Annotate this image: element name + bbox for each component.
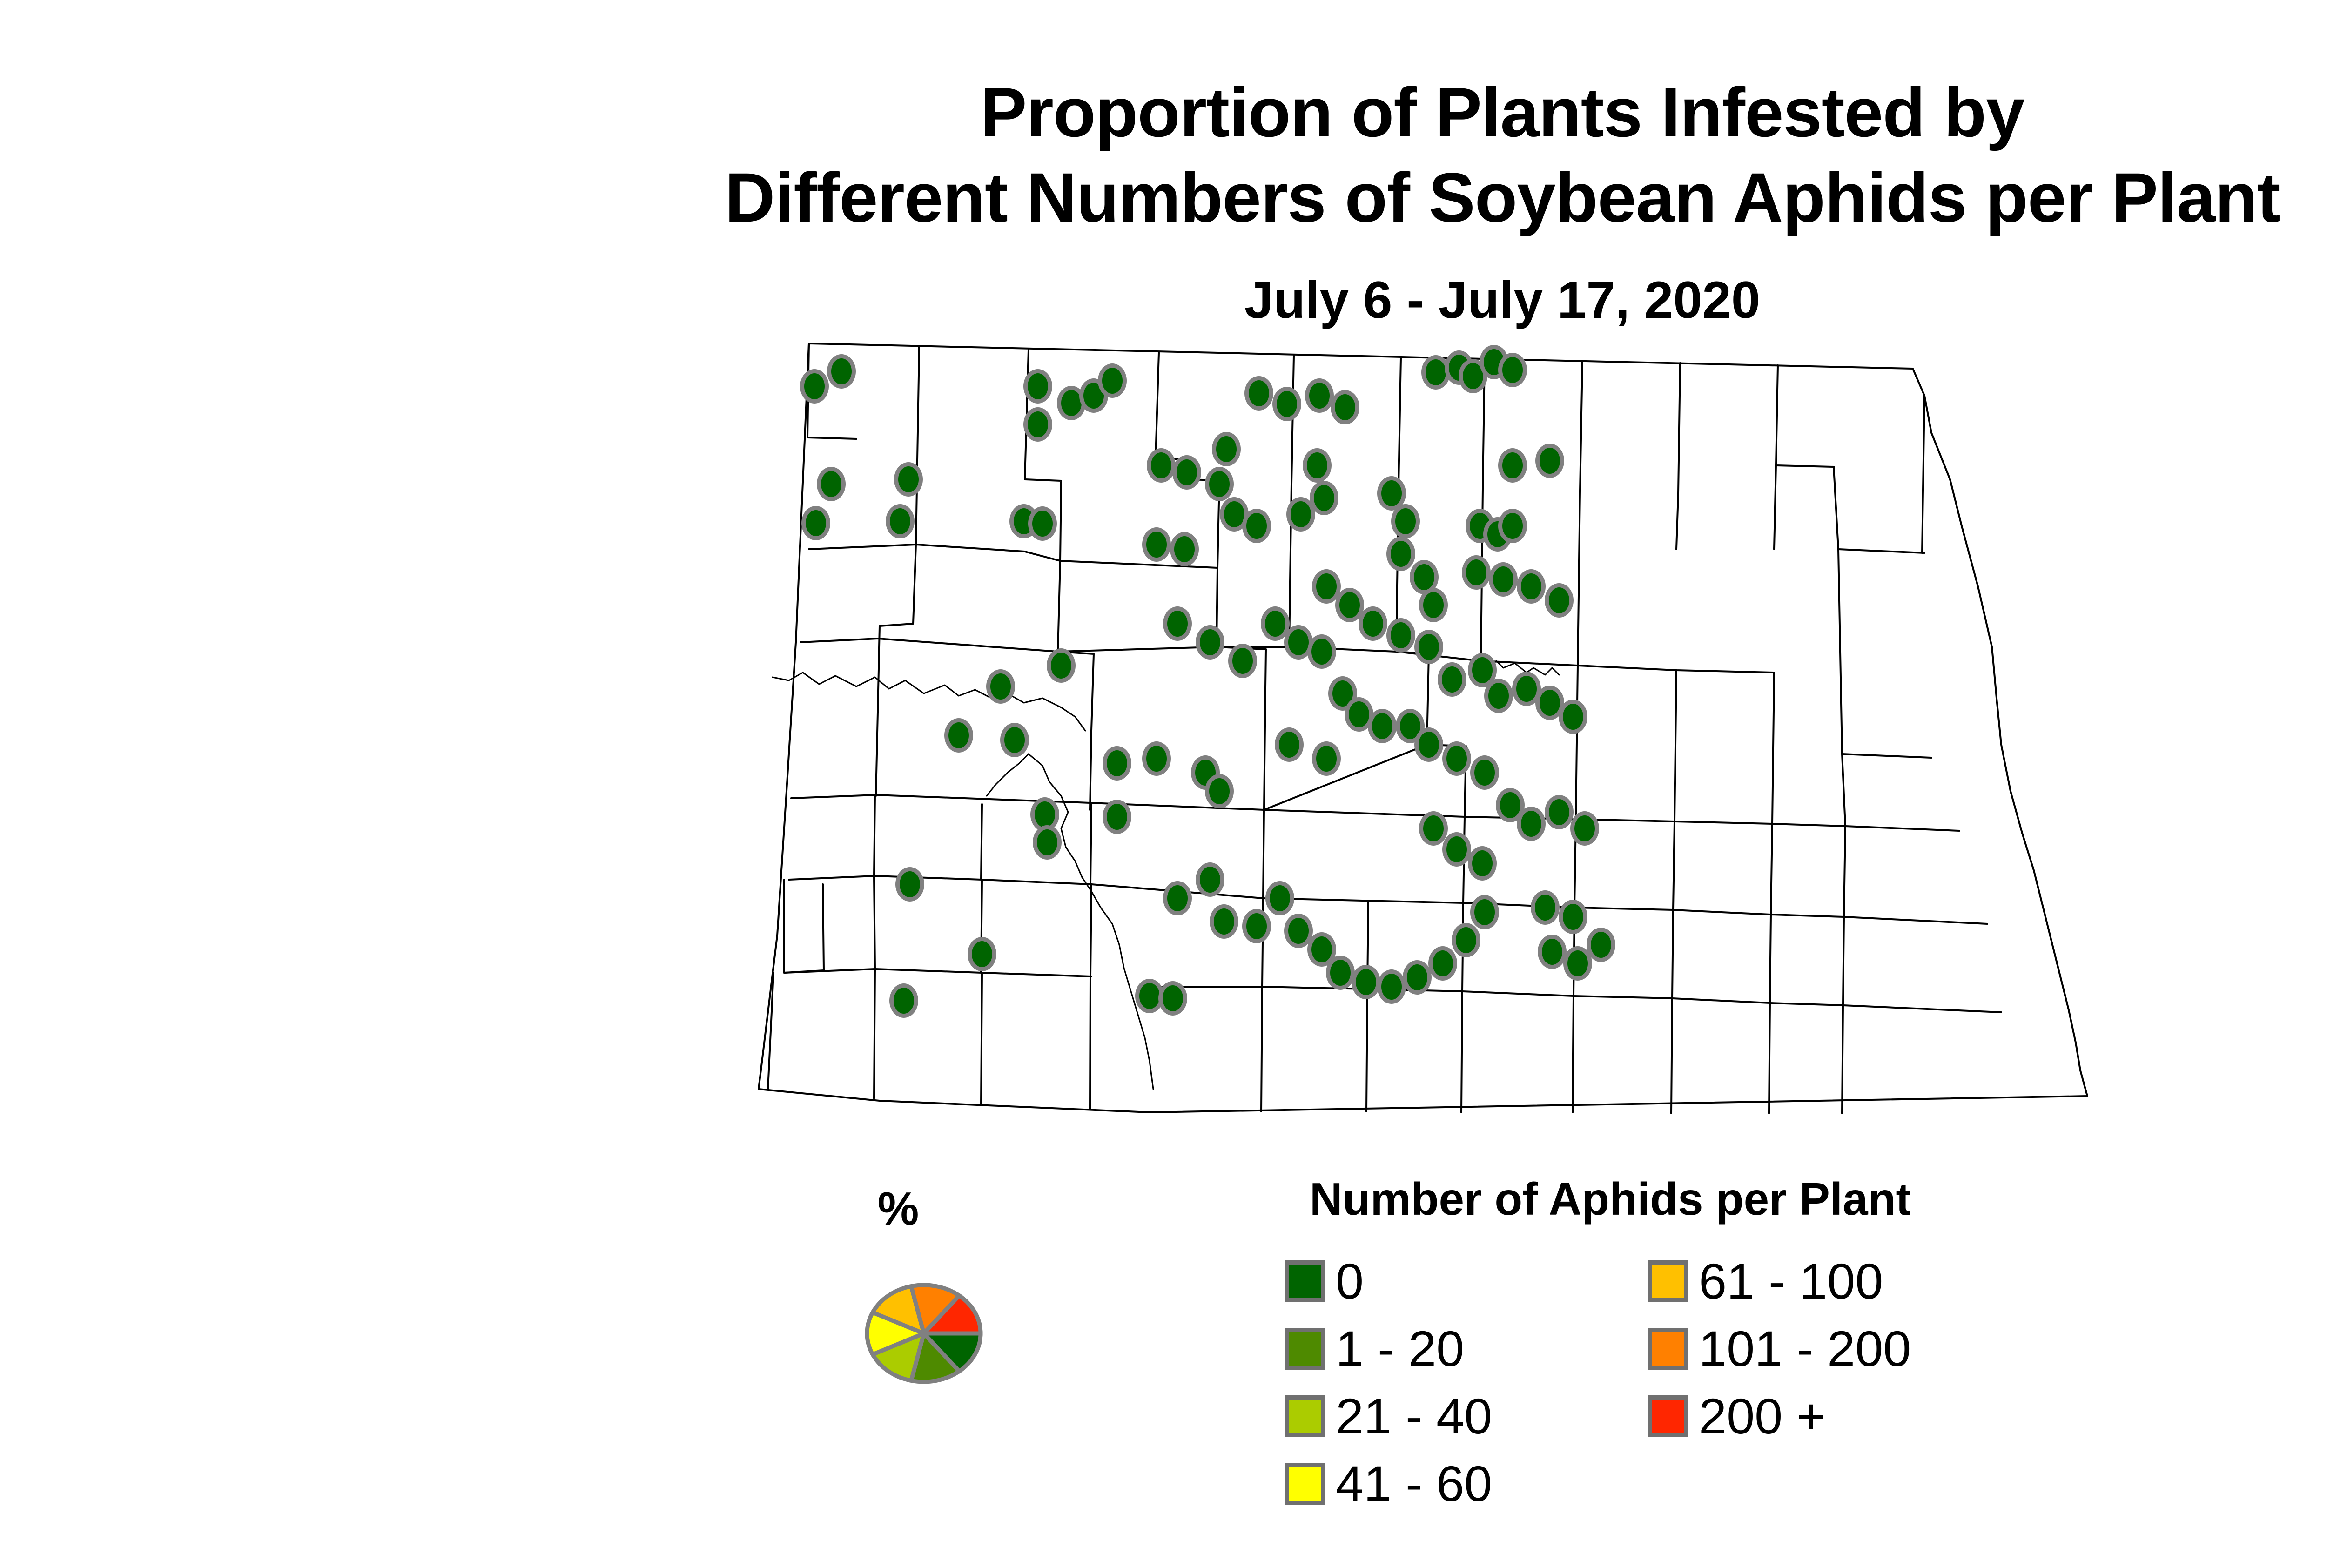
legend-item-label: 61 - 100 xyxy=(1699,1256,1883,1306)
site-pie-marker xyxy=(1498,353,1527,387)
legend-color-swatch xyxy=(1285,1463,1325,1505)
site-pie-marker xyxy=(1531,890,1560,925)
legend-color-swatch xyxy=(1285,1260,1325,1302)
site-pie-marker xyxy=(1228,644,1257,678)
site-pie-marker xyxy=(1489,562,1518,597)
site-pie-marker xyxy=(1196,862,1224,897)
site-pie-marker xyxy=(1419,588,1448,622)
site-pie-marker xyxy=(827,354,856,389)
site-pie-marker xyxy=(1377,969,1406,1004)
site-pie-marker xyxy=(817,467,846,501)
site-pie-marker xyxy=(944,718,973,753)
site-pie-marker xyxy=(1559,900,1587,934)
legend-item-label: 41 - 60 xyxy=(1336,1459,1492,1509)
site-pie-marker xyxy=(1147,448,1176,483)
site-pie-marker xyxy=(1470,895,1499,929)
site-pie-marker xyxy=(1452,923,1480,957)
site-pie-marker xyxy=(1272,387,1301,421)
site-pie-marker xyxy=(1428,946,1457,981)
site-pie-marker xyxy=(1205,467,1234,501)
site-pie-marker xyxy=(1242,509,1271,543)
site-pie-marker xyxy=(1212,432,1241,466)
legend-item-label: 200 + xyxy=(1699,1391,1826,1441)
site-pie-marker xyxy=(1028,506,1057,541)
site-pie-marker xyxy=(1570,811,1599,846)
aphid-count-legend: Number of Aphids per Plant 01 - 2021 - 4… xyxy=(1285,1173,2099,1527)
site-pie-marker xyxy=(889,983,918,1018)
site-pie-marker xyxy=(1442,741,1471,776)
site-pie-marker xyxy=(1484,679,1513,713)
site-pie-marker xyxy=(1352,965,1380,999)
site-pie-marker xyxy=(1442,832,1471,867)
site-pie-marker xyxy=(1470,755,1499,790)
legend-item-label: 101 - 200 xyxy=(1699,1324,1911,1374)
site-pie-marker xyxy=(1307,634,1336,669)
percent-pie-legend: % xyxy=(791,1182,1005,1452)
site-pie-marker xyxy=(1587,928,1615,962)
site-pie-marker xyxy=(1000,723,1029,757)
site-pie-marker xyxy=(1419,811,1448,846)
site-marker-layer xyxy=(740,326,2090,1126)
site-pie-marker xyxy=(1205,774,1234,808)
site-pie-marker xyxy=(986,669,1015,704)
site-pie-marker xyxy=(1163,881,1192,915)
legend-item-label: 21 - 40 xyxy=(1336,1391,1492,1441)
legend-item: 21 - 40 xyxy=(1285,1382,1492,1450)
site-pie-marker xyxy=(1468,846,1497,881)
site-pie-marker xyxy=(1462,555,1491,590)
site-pie-marker xyxy=(1305,378,1334,413)
site-pie-marker xyxy=(1326,956,1355,990)
site-pie-marker xyxy=(1172,455,1201,490)
legend-column-left: 01 - 2021 - 4041 - 60 xyxy=(1285,1247,1492,1517)
site-pie-marker xyxy=(1170,532,1199,566)
site-pie-marker xyxy=(1545,795,1574,829)
site-pie-marker xyxy=(1142,527,1171,562)
legend-color-swatch xyxy=(1648,1328,1688,1370)
site-pie-marker xyxy=(1545,583,1574,618)
site-pie-marker xyxy=(1098,363,1127,398)
legend-item: 1 - 20 xyxy=(1285,1315,1492,1382)
site-pie-marker xyxy=(1386,618,1415,653)
site-pie-marker xyxy=(1368,709,1397,743)
site-pie-marker xyxy=(1535,444,1564,478)
site-pie-marker xyxy=(1265,881,1294,915)
site-pie-marker xyxy=(1196,625,1224,660)
site-pie-marker xyxy=(1163,606,1192,641)
site-pie-marker xyxy=(801,506,830,540)
site-pie-marker xyxy=(1275,727,1304,762)
site-pie-marker xyxy=(1414,727,1443,762)
site-pie-marker xyxy=(1142,741,1171,776)
percent-label: % xyxy=(791,1182,1005,1236)
site-pie-marker xyxy=(1331,390,1359,424)
site-pie-marker xyxy=(1158,981,1187,1016)
site-pie-marker xyxy=(1244,376,1273,411)
site-pie-marker xyxy=(1414,630,1443,664)
legend-color-swatch xyxy=(1285,1328,1325,1370)
title-line-1: Proportion of Plants Infested by xyxy=(0,70,2327,155)
site-pie-marker xyxy=(1047,648,1076,683)
pie-chart-icon xyxy=(861,1280,987,1387)
site-pie-marker xyxy=(1498,448,1527,483)
site-pie-marker xyxy=(1498,509,1527,543)
legend-color-swatch xyxy=(1648,1395,1688,1437)
site-pie-marker xyxy=(886,504,915,538)
north-dakota-county-map xyxy=(740,326,2090,1126)
legend-item: 61 - 100 xyxy=(1648,1247,1911,1315)
site-pie-marker xyxy=(1210,904,1238,939)
site-pie-marker xyxy=(1386,537,1415,571)
site-pie-marker xyxy=(1438,662,1466,697)
site-pie-marker xyxy=(1517,807,1546,841)
site-pie-marker xyxy=(1303,448,1332,483)
site-pie-marker xyxy=(1023,369,1052,404)
site-pie-marker xyxy=(800,369,829,404)
legend-color-swatch xyxy=(1285,1395,1325,1437)
site-pie-marker xyxy=(1359,606,1387,641)
site-pie-marker xyxy=(1103,746,1131,781)
site-pie-marker xyxy=(1559,700,1587,734)
site-pie-marker xyxy=(895,867,924,902)
site-pie-marker xyxy=(1312,741,1341,776)
site-pie-marker xyxy=(1517,569,1546,604)
site-pie-marker xyxy=(1391,504,1420,538)
site-pie-marker xyxy=(968,937,996,971)
site-pie-marker xyxy=(1023,407,1052,442)
site-pie-marker xyxy=(1286,497,1315,532)
site-pie-marker xyxy=(1538,935,1567,969)
site-pie-marker xyxy=(1403,960,1432,995)
legend-item: 41 - 60 xyxy=(1285,1450,1492,1517)
site-pie-marker xyxy=(894,462,923,497)
legend-color-swatch xyxy=(1648,1260,1688,1302)
title-line-2: Different Numbers of Soybean Aphids per … xyxy=(0,155,2327,240)
legend-item-label: 1 - 20 xyxy=(1336,1324,1464,1374)
date-range-subtitle: July 6 - July 17, 2020 xyxy=(0,270,2327,330)
page-title: Proportion of Plants Infested by Differe… xyxy=(0,70,2327,240)
legend-item: 0 xyxy=(1285,1247,1492,1315)
site-pie-marker xyxy=(1103,800,1131,834)
legend-column-right: 61 - 100101 - 200200 + xyxy=(1648,1247,1911,1450)
site-pie-marker xyxy=(1033,825,1062,860)
legend-item: 200 + xyxy=(1648,1382,1911,1450)
legend-title: Number of Aphids per Plant xyxy=(1285,1173,1936,1225)
site-pie-marker xyxy=(1242,909,1271,943)
legend-item-label: 0 xyxy=(1336,1256,1364,1306)
legend-item: 101 - 200 xyxy=(1648,1315,1911,1382)
